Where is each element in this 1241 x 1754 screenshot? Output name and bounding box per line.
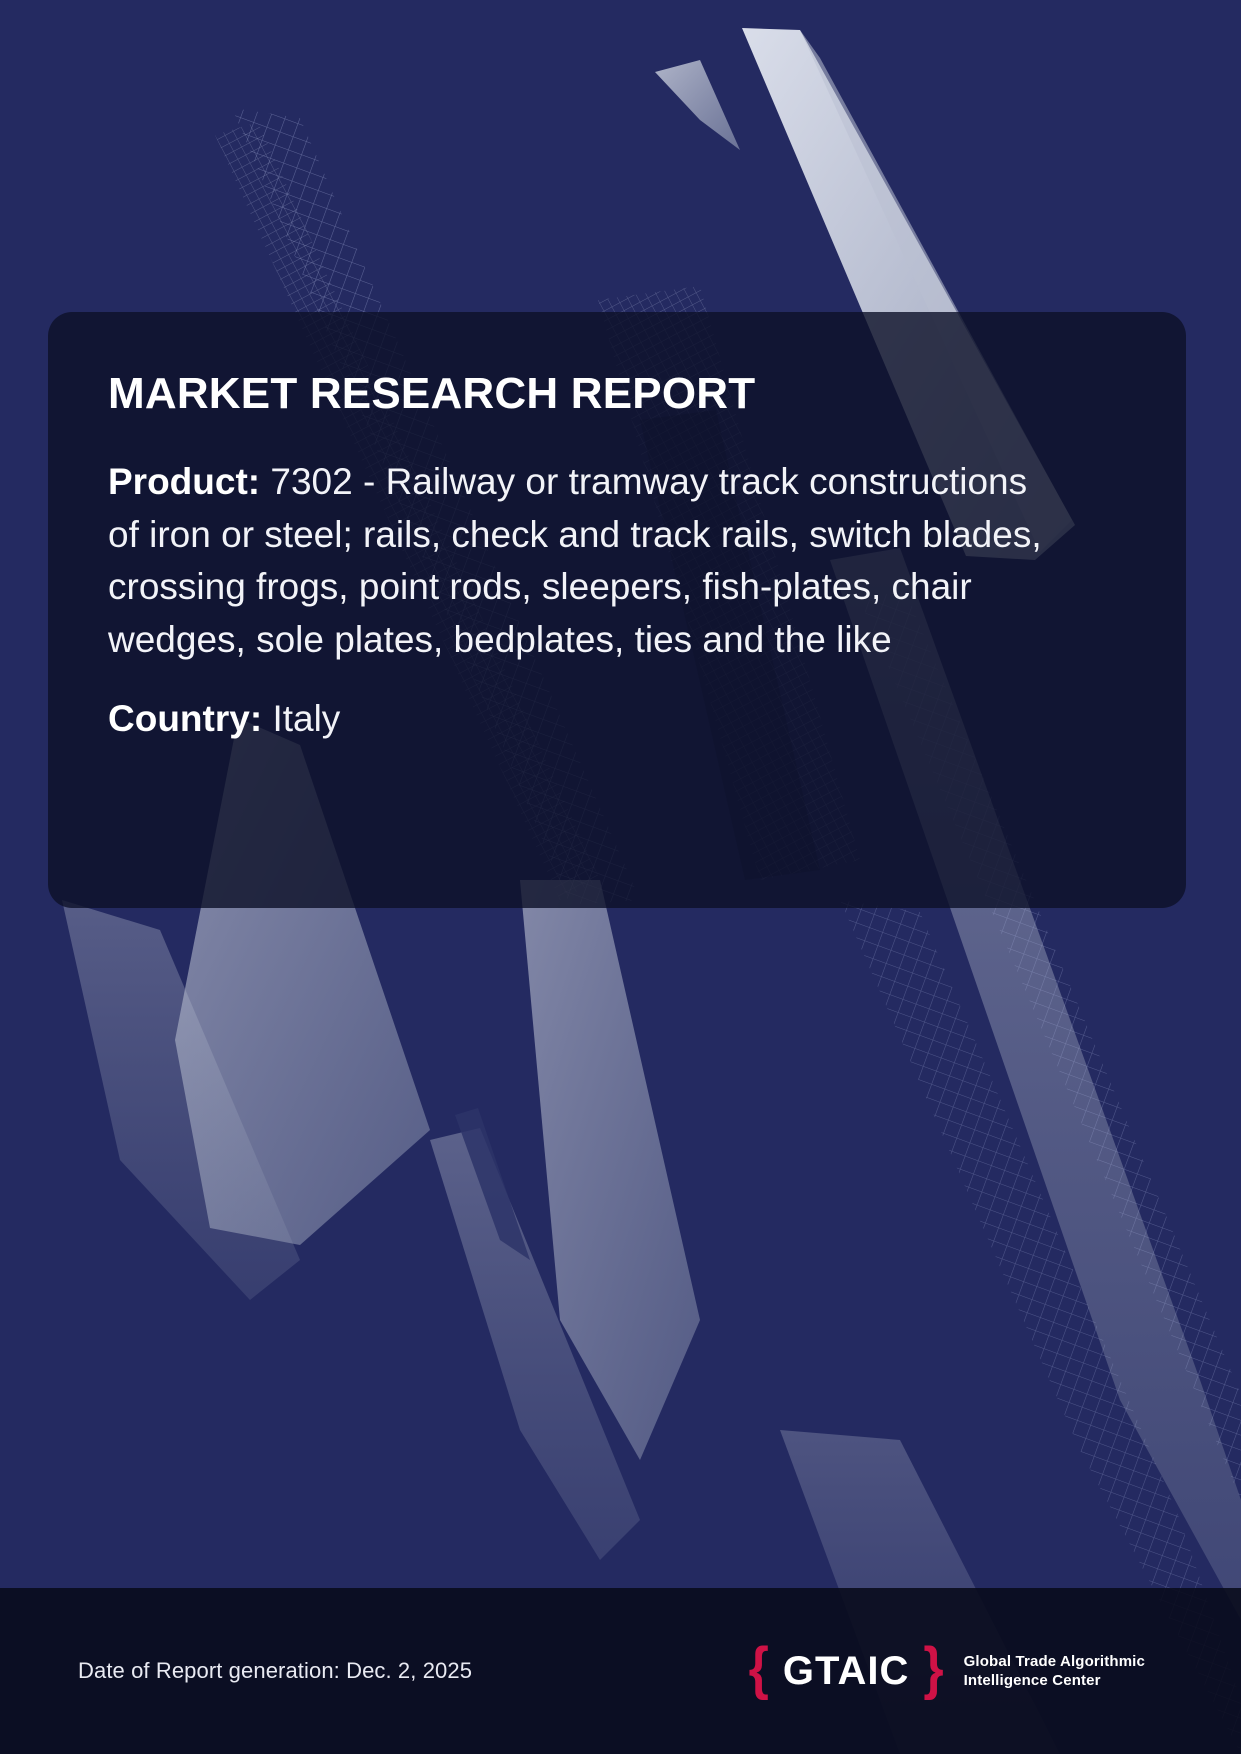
- product-label: Product:: [108, 461, 260, 502]
- brace-left-icon: {: [749, 1640, 769, 1698]
- decor-sliver-top: [655, 60, 740, 150]
- report-info-card: MARKET RESEARCH REPORT Product: 7302 - R…: [48, 312, 1186, 908]
- country-field: Country: Italy: [108, 693, 1053, 746]
- country-label: Country:: [108, 698, 262, 739]
- brace-right-icon: }: [923, 1640, 943, 1698]
- page-title: MARKET RESEARCH REPORT: [108, 370, 1126, 418]
- gtaic-tagline: Global Trade Algorithmic Intelligence Ce…: [964, 1652, 1145, 1690]
- country-value: Italy: [272, 698, 340, 739]
- product-field: Product: 7302 - Railway or tramway track…: [108, 456, 1053, 666]
- gtaic-wordmark: GTAIC: [783, 1651, 909, 1691]
- gtaic-logo: { GTAIC } Global Trade Algorithmic Intel…: [749, 1645, 1185, 1697]
- report-generation-date: Date of Report generation: Dec. 2, 2025: [78, 1658, 472, 1684]
- footer-bar: Date of Report generation: Dec. 2, 2025 …: [0, 1588, 1241, 1754]
